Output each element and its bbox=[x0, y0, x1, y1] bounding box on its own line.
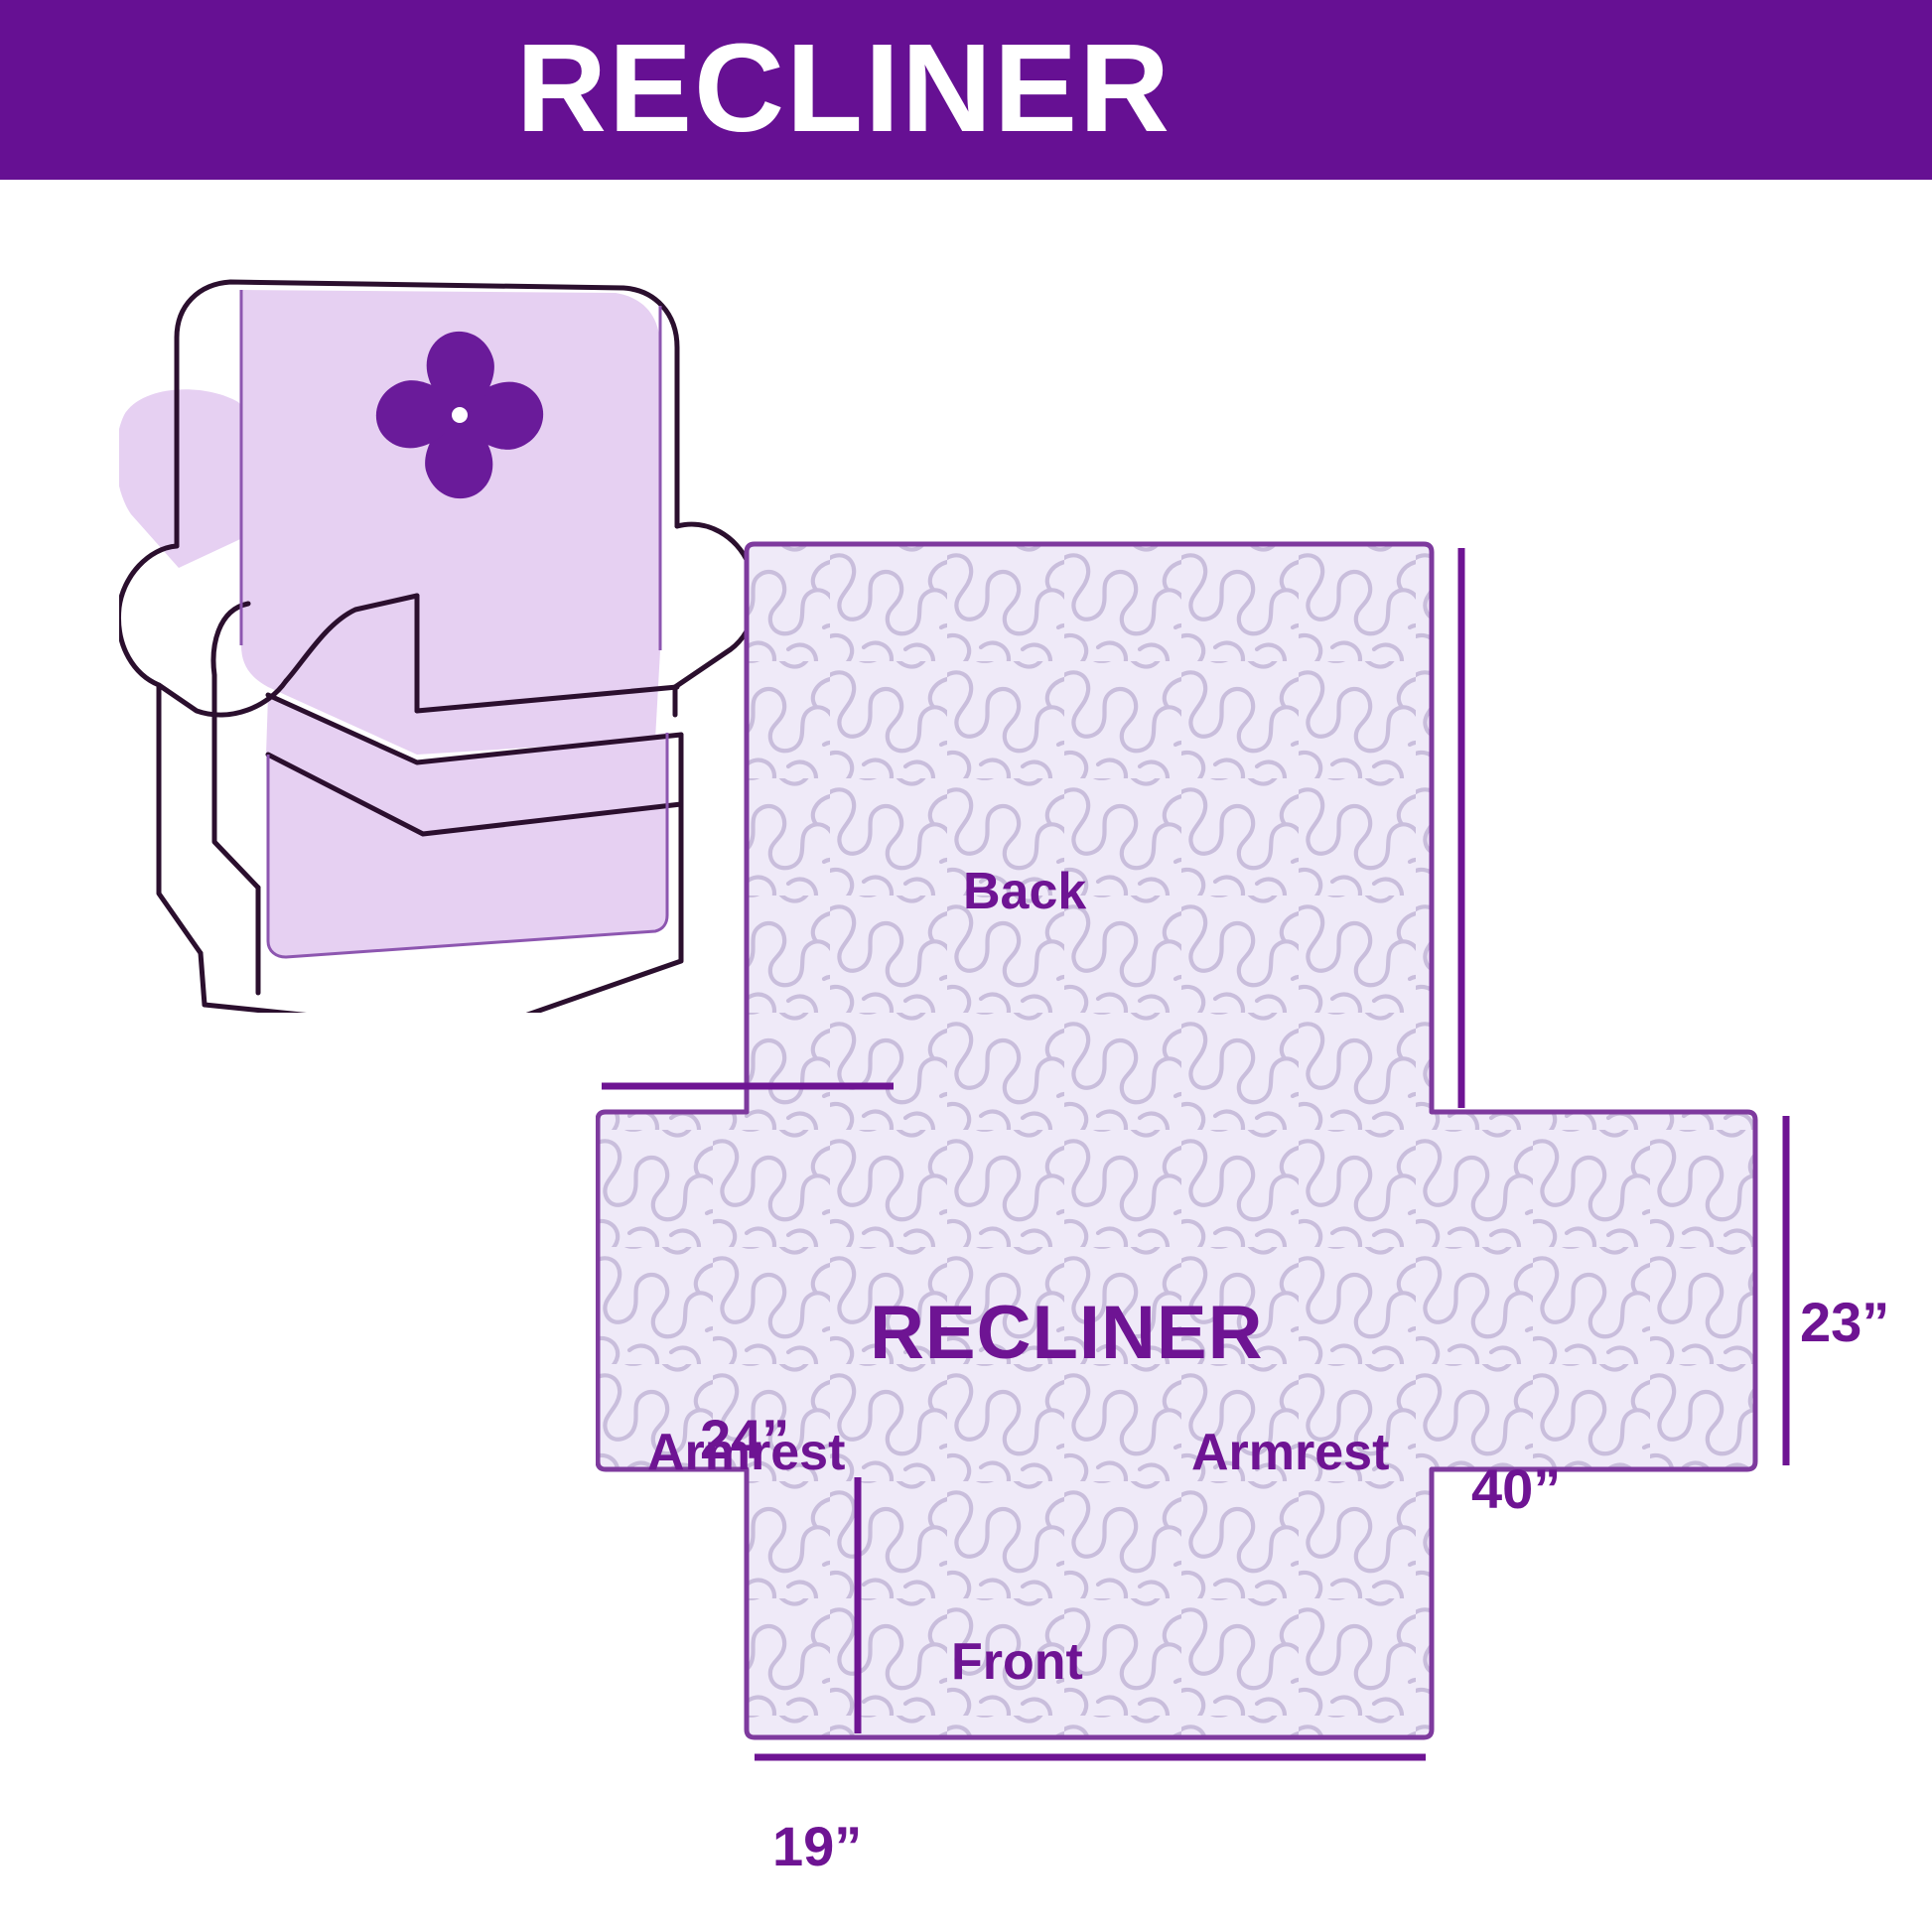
header-banner: RECLINER bbox=[0, 0, 1932, 180]
panel-label-back: Back bbox=[963, 864, 1086, 919]
page-title: RECLINER bbox=[0, 14, 1688, 163]
cover-pattern-dimension-diagram: Back Armrest Armrest Front RECLINER 40” … bbox=[596, 427, 1932, 1866]
product-dimension-infographic: RECLINER bbox=[0, 0, 1932, 1932]
center-product-label: RECLINER bbox=[870, 1294, 1263, 1373]
dimension-label-front-height: 19” bbox=[772, 1817, 862, 1876]
panel-label-armrest-right: Armrest bbox=[1191, 1425, 1389, 1480]
dimension-label-back-height: 40” bbox=[1471, 1459, 1561, 1519]
cover-cross-outline bbox=[598, 544, 1755, 1737]
dimension-label-armrest-depth: 23” bbox=[1800, 1293, 1889, 1352]
dimension-label-armrest-width: 24” bbox=[700, 1410, 789, 1469]
panel-label-front: Front bbox=[951, 1634, 1083, 1690]
cross-pattern-svg bbox=[596, 427, 1932, 1866]
